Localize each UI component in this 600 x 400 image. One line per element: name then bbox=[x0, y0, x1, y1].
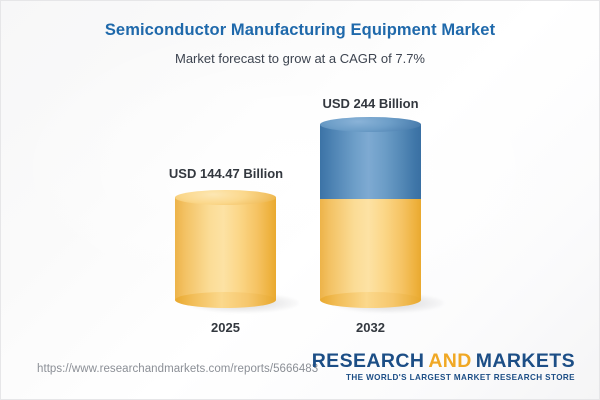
bar-category-label-2032: 2032 bbox=[320, 321, 421, 334]
bar-segment-base-2025 bbox=[175, 190, 276, 308]
chart-header: Semiconductor Manufacturing Equipment Ma… bbox=[1, 21, 599, 66]
bar-category-label-2025: 2025 bbox=[175, 321, 276, 334]
bar-segment-body bbox=[320, 124, 421, 203]
bar-cylinder-2032[interactable] bbox=[320, 117, 421, 308]
bar-segment-top-ellipse bbox=[320, 117, 421, 132]
bar-segment-top-ellipse bbox=[175, 190, 276, 205]
bar-segment-growth-2032 bbox=[320, 117, 421, 203]
bar-segment-base-2032 bbox=[320, 195, 421, 308]
bar-segment-body bbox=[320, 199, 421, 300]
bar-segment-bottom-ellipse bbox=[175, 292, 276, 308]
page-title: Semiconductor Manufacturing Equipment Ma… bbox=[1, 21, 599, 41]
bar-segment-bottom-ellipse bbox=[320, 292, 421, 308]
bar-cylinder-2025[interactable] bbox=[175, 190, 276, 308]
report-url[interactable]: https://www.researchandmarkets.com/repor… bbox=[37, 363, 318, 375]
logo-word-research: RESEARCH bbox=[312, 350, 425, 372]
logo-wordmark: RESEARCHANDMARKETS bbox=[312, 351, 575, 371]
logo-tagline: THE WORLD'S LARGEST MARKET RESEARCH STOR… bbox=[312, 374, 575, 382]
research-and-markets-logo[interactable]: RESEARCHANDMARKETS THE WORLD'S LARGEST M… bbox=[312, 351, 575, 383]
bar-value-label-2025: USD 144.47 Billion bbox=[155, 167, 297, 180]
footer: https://www.researchandmarkets.com/repor… bbox=[1, 341, 600, 399]
logo-word-and: AND bbox=[428, 350, 471, 372]
bar-value-label-2032: USD 244 Billion bbox=[309, 97, 432, 110]
page-subtitle: Market forecast to grow at a CAGR of 7.7… bbox=[1, 51, 599, 67]
infographic-card: Semiconductor Manufacturing Equipment Ma… bbox=[0, 0, 600, 400]
bar-segment-body bbox=[175, 197, 276, 300]
logo-word-markets: MARKETS bbox=[476, 350, 575, 372]
